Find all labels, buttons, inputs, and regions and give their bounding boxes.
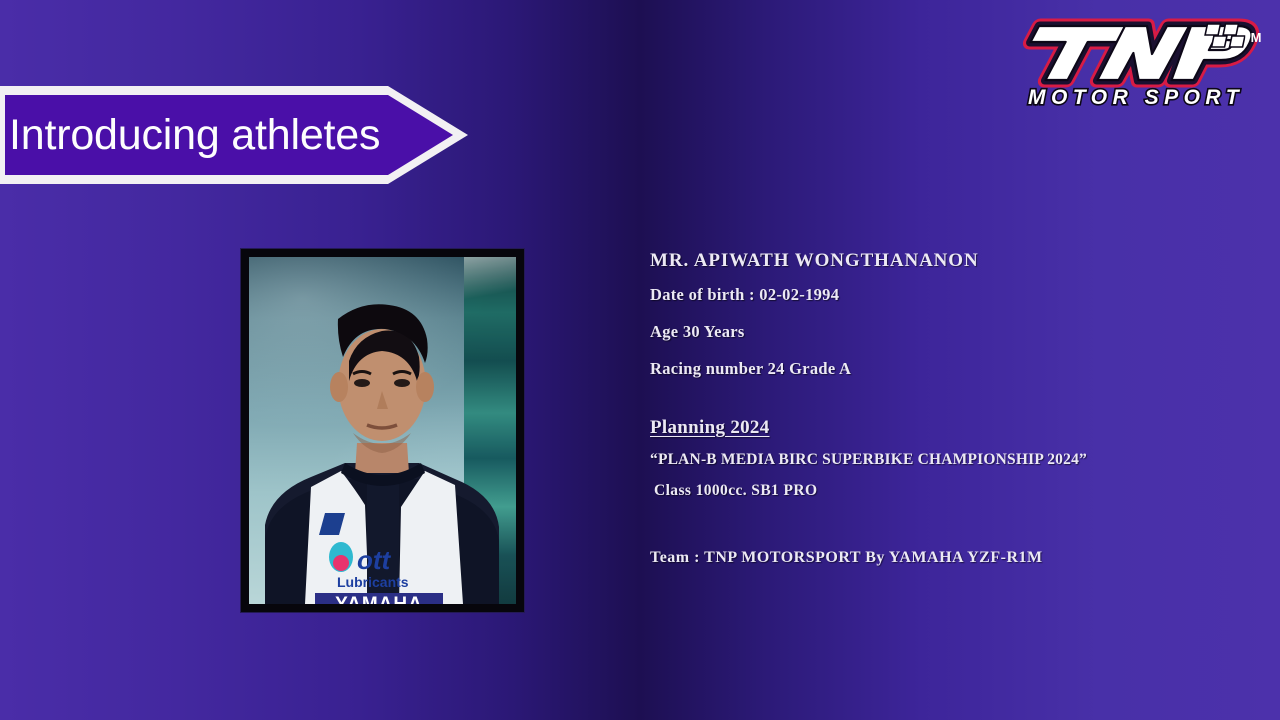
team-name: Team : TNP MOTORSPORT By YAMAHA YZF-R1M	[650, 549, 1210, 567]
planning-heading: Planning 2024	[650, 417, 1210, 439]
slide: Introducing athletes	[0, 0, 1280, 720]
athlete-racing-number: Racing number 24 Grade A	[650, 359, 1210, 379]
rider-figure: ott Lubricants YAMAHA	[249, 257, 516, 604]
svg-text:ott: ott	[357, 545, 392, 575]
athlete-photo-frame: ott Lubricants YAMAHA	[241, 249, 524, 612]
athlete-photo: ott Lubricants YAMAHA	[249, 257, 516, 604]
trademark-mark: TM	[1242, 30, 1262, 45]
page-title: Introducing athletes	[9, 86, 380, 184]
athlete-age: Age 30 Years	[650, 322, 1210, 342]
athlete-date-of-birth: Date of birth : 02-02-1994	[650, 285, 1210, 305]
svg-text:MOTOR SPORT: MOTOR SPORT	[1028, 86, 1244, 109]
svg-text:YAMAHA: YAMAHA	[335, 594, 423, 604]
athlete-info: MR. APIWATH WONGTHANANON Date of birth :…	[650, 250, 1210, 567]
tnp-motorsport-logo: MOTOR SPORT TM	[1010, 12, 1262, 112]
svg-text:Lubricants: Lubricants	[337, 574, 409, 590]
championship-name: “PLAN-B MEDIA BIRC SUPERBIKE CHAMPIONSHI…	[650, 451, 1210, 469]
athlete-name: MR. APIWATH WONGTHANANON	[650, 250, 1210, 272]
title-banner: Introducing athletes	[0, 86, 468, 184]
race-class: Class 1000cc. SB1 PRO	[654, 482, 1210, 500]
